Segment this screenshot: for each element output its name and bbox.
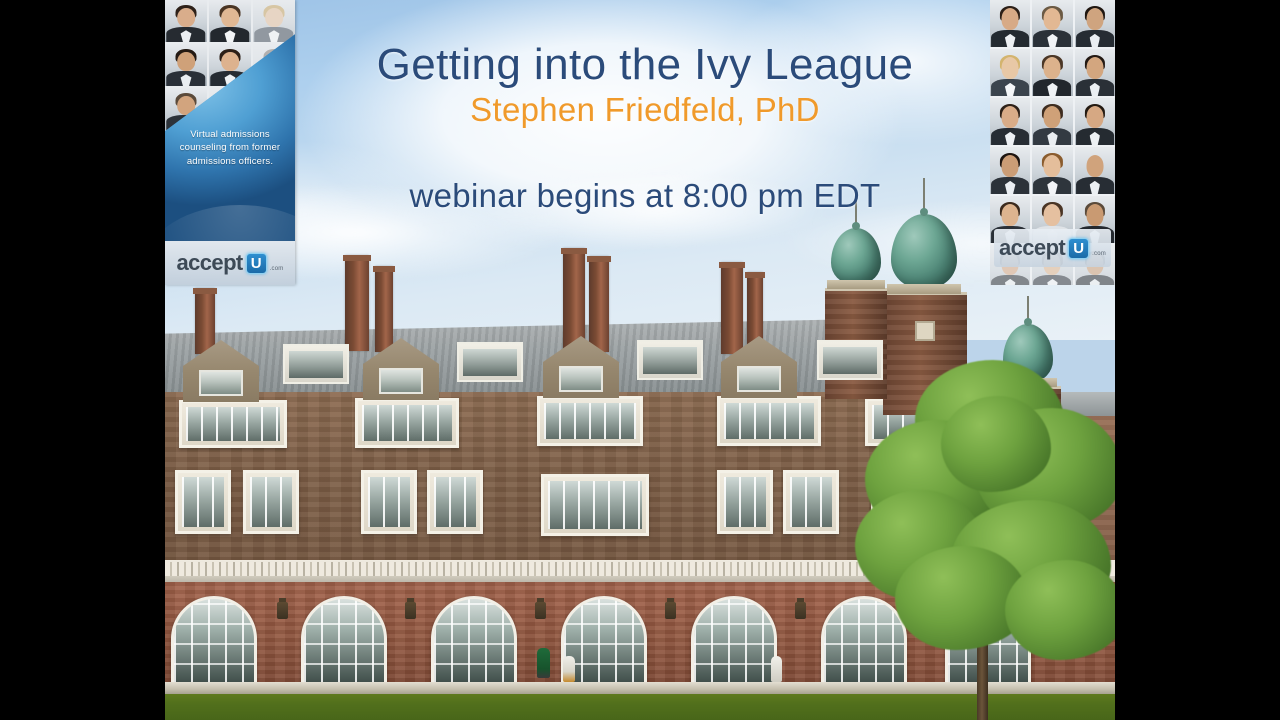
copper-onion-dome [1003,324,1053,382]
window [361,470,417,534]
advisor-headshot [1032,147,1072,194]
lawn [165,694,1115,720]
lantern-icon [665,602,676,619]
lantern-icon [405,602,416,619]
letterbox-bar-right [1115,0,1280,720]
window [783,470,839,534]
title-block: Getting into the Ivy League Stephen Frie… [285,40,1005,215]
arched-window [691,596,777,688]
seated-person [563,656,575,682]
advisor-headshot [1075,0,1115,47]
copper-onion-dome [891,214,957,288]
logo-wordmark: accept [999,237,1065,259]
bay-window [179,400,287,448]
lantern-icon [535,602,546,619]
lantern-icon [795,602,806,619]
slide-content: Getting into the Ivy League Stephen Frie… [165,0,1115,720]
advisor-headshot [990,147,1030,194]
window [871,470,927,534]
advisor-headshot [1032,98,1072,145]
dormer-window [363,338,439,400]
window [243,470,299,534]
banner-tagline: Virtual admissions counseling from forme… [173,128,287,168]
logo-tld: .com [270,266,284,274]
dormer-window [817,340,883,380]
acceptu-logo-left[interactable]: accept U .com [165,241,295,285]
advisor-headshot [1075,147,1115,194]
logo-u-mark: U [246,253,267,274]
advisor-headshot [990,98,1030,145]
arched-window [171,596,257,688]
logo-wordmark: accept [177,252,243,274]
arched-window [945,596,1031,688]
dormer-window-row [165,318,965,398]
stone-balustrade [165,560,1115,582]
window [175,470,231,534]
bay-window [355,398,459,448]
dormer-window [183,340,259,402]
logo-u-mark: U [1068,238,1089,259]
window [717,470,773,534]
copper-onion-dome [831,228,881,284]
bay-window [537,396,643,446]
advisor-headshot [253,0,295,42]
tower-finial-icon [1027,296,1029,326]
logo-tld: .com [1092,251,1106,259]
advisor-headshot [1032,49,1072,96]
acceptu-right-photo-strip: accept U .com [990,0,1115,285]
dormer-window [721,336,797,398]
advisor-headshot [1075,49,1115,96]
acceptu-left-banner: Virtual admissions counseling from forme… [165,0,295,285]
webinar-start-notice: webinar begins at 8:00 pm EDT [285,177,1005,215]
dormer-window [637,340,703,380]
advisor-headshot [209,0,251,42]
advisor-headshot [990,0,1030,47]
bay-window [717,396,821,446]
tower [995,386,1061,509]
presenter-name: Stephen Friedfeld, PhD [285,91,1005,129]
arcade-level [165,580,1115,690]
seated-person [771,656,782,682]
dome-base [827,280,885,289]
advisor-headshot [1032,0,1072,47]
arched-window [301,596,387,688]
seated-person [537,648,550,678]
advisor-headshot [990,49,1030,96]
letterbox-bar-left [0,0,165,720]
page-title: Getting into the Ivy League [285,40,1005,89]
acceptu-logo-right[interactable]: accept U .com [994,229,1111,267]
window [427,470,483,534]
video-frame: Getting into the Ivy League Stephen Frie… [0,0,1280,720]
advisor-headshot [1075,98,1115,145]
dome-base [887,284,961,294]
dormer-window [543,336,619,398]
dome-base [999,378,1057,387]
window [541,474,649,536]
dormer-window [283,344,349,384]
lantern-icon [277,602,288,619]
advisor-headshot [165,44,207,86]
dormer-window [457,342,523,382]
advisor-headshot [165,0,207,42]
arched-window [431,596,517,688]
arched-window [821,596,907,688]
